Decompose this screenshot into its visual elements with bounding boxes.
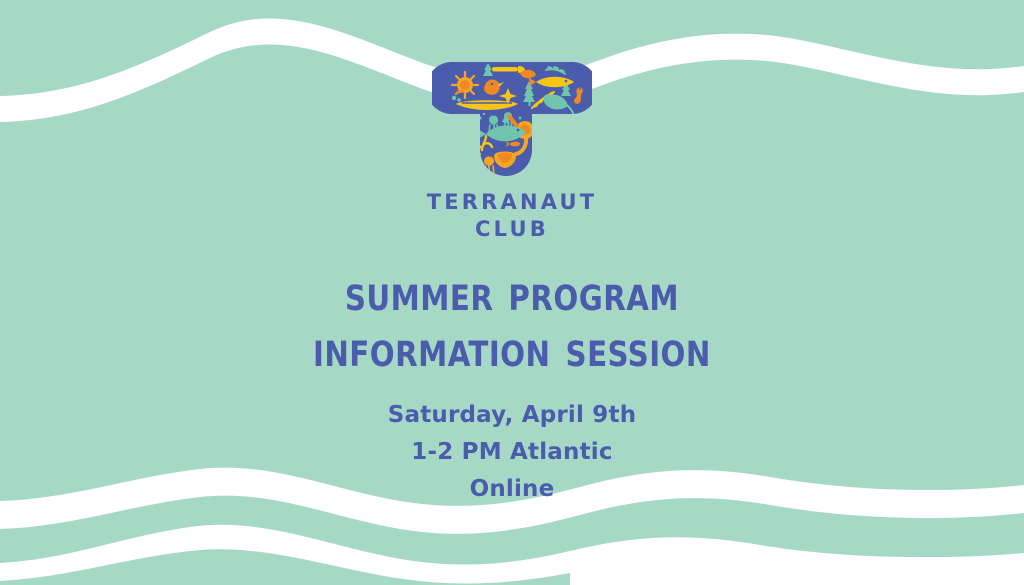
starfish-icon <box>476 172 492 183</box>
water-ripple-icon <box>492 177 510 183</box>
headline-line-2: Information Session <box>313 321 711 377</box>
brand-wordmark: TERRANAUT CLUB <box>427 189 598 243</box>
terranaut-t-monogram-icon <box>432 58 592 183</box>
wordmark-line-1: TERRANAUT <box>427 189 598 216</box>
sun-icon <box>452 72 478 98</box>
wordmark-line-2: CLUB <box>475 216 549 243</box>
event-headline: Summer Program Information Session <box>298 265 726 377</box>
event-time: 1-2 PM Atlantic <box>388 434 637 471</box>
event-date: Saturday, April 9th <box>388 397 637 434</box>
headline-line-1: Summer Program <box>313 265 711 321</box>
event-poster: TERRANAUT CLUB Summer Program Informatio… <box>0 0 1024 585</box>
fish-icon <box>432 122 435 125</box>
event-details: Saturday, April 9th 1-2 PM Atlantic Onli… <box>388 397 637 509</box>
poster-content: TERRANAUT CLUB Summer Program Informatio… <box>0 0 1024 585</box>
event-location: Online <box>388 471 637 508</box>
brand-logo: TERRANAUT CLUB <box>427 58 598 243</box>
